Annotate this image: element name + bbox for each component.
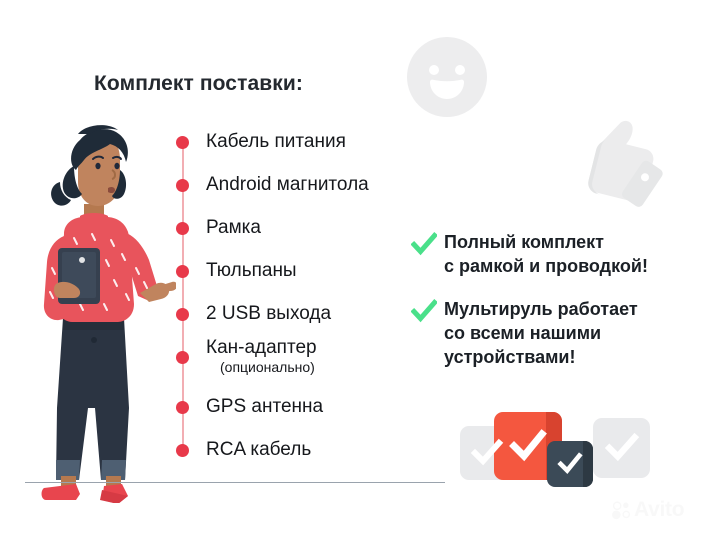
list-item: RCA кабель (176, 439, 311, 461)
avito-logo-icon (612, 501, 631, 520)
page-title: Комплект поставки: (94, 72, 303, 96)
woman-pointing-illustration (16, 108, 176, 503)
check-icon (508, 426, 548, 466)
checkbox-cards-graphic (460, 408, 650, 488)
list-item-label: Android магнитола (206, 174, 369, 196)
feature-line: Мультируль работает (444, 297, 638, 321)
list-item: GPS антенна (176, 396, 323, 418)
list-item: Android магнитола (176, 174, 369, 196)
avito-watermark-text: Avito (634, 498, 684, 522)
smiley-face-icon (406, 36, 488, 118)
list-item-label: RCA кабель (206, 439, 311, 461)
bullet-dot-icon (176, 444, 189, 457)
list-item-label: Кан-адаптер (206, 337, 317, 359)
list-item-label: Кабель питания (206, 131, 346, 153)
list-item: Кабель питания (176, 131, 346, 153)
bullet-dot-icon (176, 222, 189, 235)
avito-watermark: Avito (612, 498, 684, 522)
list-item-label: Тюльпаны (206, 260, 297, 282)
promo-image: Комплект поставки: Кабель питания Androi… (0, 0, 720, 540)
bullet-dot-icon (176, 136, 189, 149)
feature-line: с рамкой и проводкой! (444, 254, 648, 278)
checkbox-card-dark (547, 441, 593, 487)
bullet-dot-icon (176, 265, 189, 278)
card-shadow (583, 441, 593, 487)
list-item-label: Рамка (206, 217, 261, 239)
bullet-dot-icon (176, 401, 189, 414)
list-item: Кан-адаптер (опционально) (176, 346, 317, 368)
list-item: Тюльпаны (176, 260, 297, 282)
checkbox-card-gray-right (593, 418, 650, 478)
feature-line: устройствами! (444, 345, 638, 369)
list-item-label: GPS антенна (206, 396, 323, 418)
check-icon (470, 436, 504, 470)
green-check-icon (411, 231, 437, 257)
feature-item-full-kit: Полный комплект с рамкой и проводкой! (411, 230, 648, 278)
list-item: Рамка (176, 217, 261, 239)
bullet-dot-icon (176, 351, 189, 364)
ground-line (25, 482, 445, 483)
green-check-icon (411, 298, 437, 324)
package-contents-list: Кабель питания Android магнитола Рамка Т… (176, 131, 426, 461)
thumbs-up-icon (573, 112, 669, 212)
feature-item-multiwheel: Мультируль работает со всеми нашими устр… (411, 297, 638, 369)
check-icon (604, 430, 640, 466)
bullet-dot-icon (176, 308, 189, 321)
check-icon (556, 450, 584, 478)
list-item-label: 2 USB выхода (206, 303, 331, 325)
feature-line: со всеми нашими (444, 321, 638, 345)
list-item: 2 USB выхода (176, 303, 331, 325)
feature-line: Полный комплект (444, 230, 648, 254)
list-item-sublabel: (опционально) (220, 359, 317, 376)
bullet-dot-icon (176, 179, 189, 192)
